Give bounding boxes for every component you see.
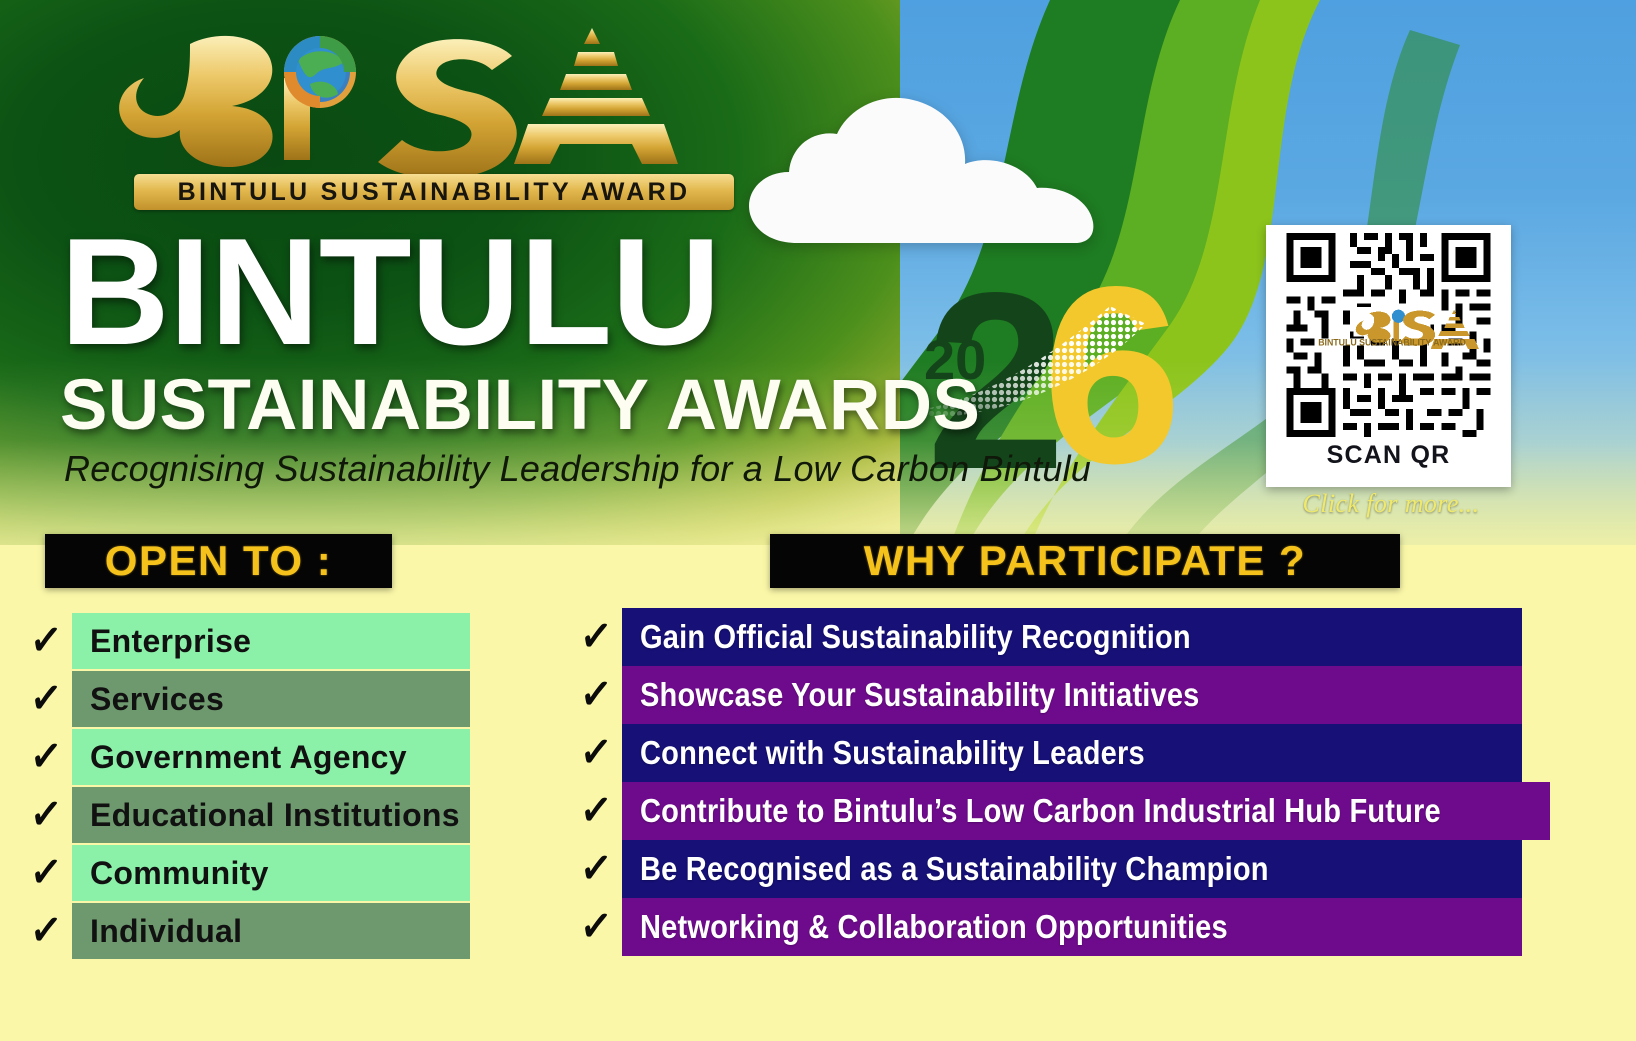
list-item-label: Be Recognised as a Sustainability Champi… xyxy=(640,850,1269,888)
list-item-label: Enterprise xyxy=(90,623,251,660)
list-item: ✓Educational Institutions xyxy=(20,786,470,844)
list-item-label: Connect with Sustainability Leaders xyxy=(640,734,1145,772)
list-item: ✓Connect with Sustainability Leaders xyxy=(570,724,1522,782)
open-to-item-2: Government Agency xyxy=(72,729,470,785)
open-to-item-5: Individual xyxy=(72,903,470,959)
check-icon: ✓ xyxy=(22,732,70,781)
open-to-item-1: Services xyxy=(72,671,470,727)
qr-scan-label: SCAN QR xyxy=(1274,441,1503,470)
list-item: ✓Community xyxy=(20,844,470,902)
why-participate-item-2: Connect with Sustainability Leaders xyxy=(622,724,1522,782)
list-item: ✓Networking & Collaboration Opportunitie… xyxy=(570,898,1522,956)
list-item-label: Services xyxy=(90,681,224,718)
cloud-icon xyxy=(745,88,1100,248)
check-icon: ✓ xyxy=(572,612,620,661)
qr-code-card[interactable]: BINTULU SUSTAINABILITY AWARD SCAN QR xyxy=(1266,225,1511,487)
list-item: ✓Individual xyxy=(20,902,470,960)
list-item-label: Gain Official Sustainability Recognition xyxy=(640,618,1191,656)
list-item-label: Showcase Your Sustainability Initiatives xyxy=(640,676,1200,714)
logo-tagline-text: BINTULU SUSTAINABILITY AWARD xyxy=(178,178,691,207)
why-participate-item-0: Gain Official Sustainability Recognition xyxy=(622,608,1522,666)
why-participate-list: ✓Gain Official Sustainability Recognitio… xyxy=(570,608,1522,956)
why-participate-item-4: Be Recognised as a Sustainability Champi… xyxy=(622,840,1522,898)
check-icon: ✓ xyxy=(572,728,620,777)
check-icon: ✓ xyxy=(22,674,70,723)
open-to-list: ✓Enterprise✓Services✓Government Agency✓E… xyxy=(20,612,470,960)
list-item: ✓Gain Official Sustainability Recognitio… xyxy=(570,608,1522,666)
list-item-label: Government Agency xyxy=(90,739,407,776)
bisa-logo-mark xyxy=(72,22,682,174)
why-participate-item-1: Showcase Your Sustainability Initiatives xyxy=(622,666,1522,724)
title-bintulu: BINTULU xyxy=(60,228,1060,356)
title-tagline: Recognising Sustainability Leadership fo… xyxy=(64,448,1060,490)
check-icon: ✓ xyxy=(572,844,620,893)
list-item-label: Networking & Collaboration Opportunities xyxy=(640,908,1228,946)
check-icon: ✓ xyxy=(572,670,620,719)
check-icon: ✓ xyxy=(572,786,620,835)
list-item-label: Individual xyxy=(90,913,242,950)
open-to-banner-text: OPEN TO : xyxy=(105,537,332,585)
why-participate-banner-text: WHY PARTICIPATE ? xyxy=(864,537,1306,585)
qr-click-for-more[interactable]: Click for more... xyxy=(1266,489,1516,519)
logo-tagline-bar: BINTULU SUSTAINABILITY AWARD xyxy=(134,174,734,210)
title-sustainability-awards: SUSTAINABILITY AWARDS xyxy=(60,370,1060,442)
list-item: ✓Contribute to Bintulu’s Low Carbon Indu… xyxy=(570,782,1522,840)
open-to-banner: OPEN TO : xyxy=(45,534,392,588)
list-item: ✓Showcase Your Sustainability Initiative… xyxy=(570,666,1522,724)
open-to-item-4: Community xyxy=(72,845,470,901)
year-prefix-20: 20 xyxy=(924,332,986,388)
open-to-item-3: Educational Institutions xyxy=(72,787,470,843)
qr-code-icon[interactable]: BINTULU SUSTAINABILITY AWARD xyxy=(1274,233,1503,437)
list-item: ✓Government Agency xyxy=(20,728,470,786)
open-to-item-0: Enterprise xyxy=(72,613,470,669)
check-icon: ✓ xyxy=(22,790,70,839)
check-icon: ✓ xyxy=(22,616,70,665)
check-icon: ✓ xyxy=(22,906,70,955)
check-icon: ✓ xyxy=(572,902,620,951)
why-participate-item-5: Networking & Collaboration Opportunities xyxy=(622,898,1522,956)
list-item: ✓Enterprise xyxy=(20,612,470,670)
list-item: ✓Services xyxy=(20,670,470,728)
bisa-logo: BINTULU SUSTAINABILITY AWARD xyxy=(72,22,682,217)
check-icon: ✓ xyxy=(22,848,70,897)
title-block: BINTULU SUSTAINABILITY AWARDS Recognisin… xyxy=(60,228,1060,490)
why-participate-banner: WHY PARTICIPATE ? xyxy=(770,534,1400,588)
list-item-label: Educational Institutions xyxy=(90,797,460,834)
list-item: ✓Be Recognised as a Sustainability Champ… xyxy=(570,840,1522,898)
list-item-label: Community xyxy=(90,855,269,892)
why-participate-item-3: Contribute to Bintulu’s Low Carbon Indus… xyxy=(622,782,1550,840)
list-item-label: Contribute to Bintulu’s Low Carbon Indus… xyxy=(640,792,1441,830)
svg-text:BINTULU SUSTAINABILITY AWARD: BINTULU SUSTAINABILITY AWARD xyxy=(1318,338,1466,348)
poster: BINTULU SUSTAINABILITY AWARD 6 2 20 xyxy=(0,0,1636,1041)
